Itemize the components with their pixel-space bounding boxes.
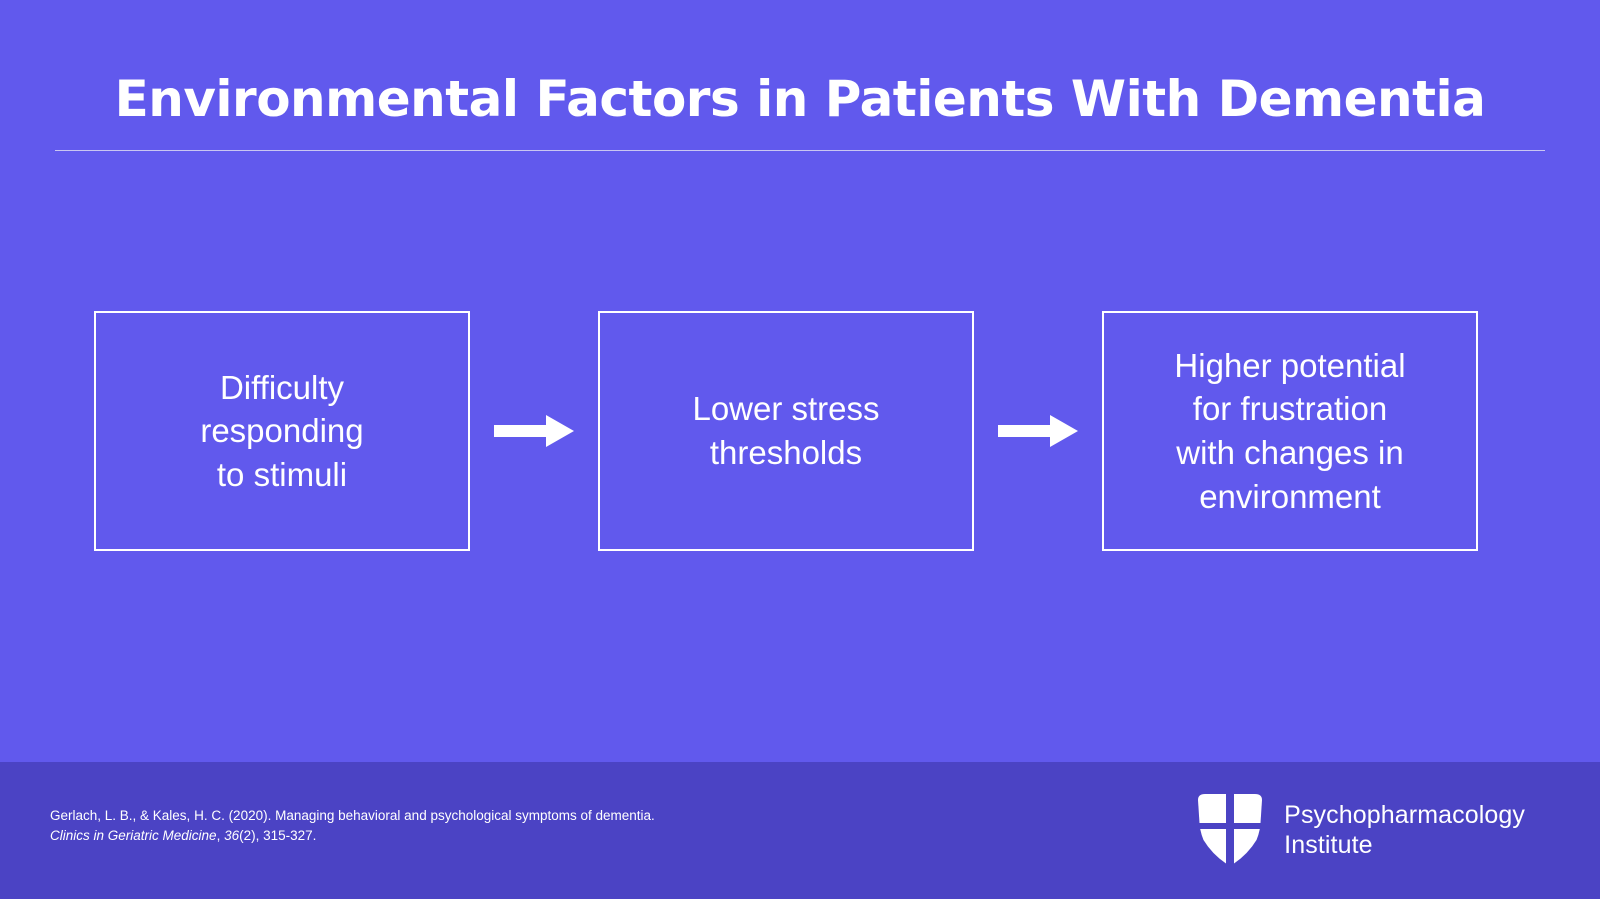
- shield-icon: [1194, 790, 1266, 870]
- arrow-right-icon-1: [470, 311, 598, 551]
- arrow-right-icon-2: [974, 311, 1102, 551]
- citation-line-1: Gerlach, L. B., & Kales, H. C. (2020). M…: [50, 806, 655, 826]
- title-divider: [55, 150, 1545, 151]
- citation-line-2: Clinics in Geriatric Medicine, 36(2), 31…: [50, 826, 655, 846]
- flow-node-2: Lower stress thresholds: [598, 311, 974, 551]
- page-title: Environmental Factors in Patients With D…: [0, 72, 1600, 127]
- slide: Environmental Factors in Patients With D…: [0, 0, 1600, 899]
- citation-issue-pages: (2), 315-327.: [239, 828, 316, 843]
- brand-logo: Psychopharmacology Institute: [1194, 790, 1525, 870]
- flow-diagram: Difficulty responding to stimuli Lower s…: [94, 311, 1506, 551]
- footer-band: Gerlach, L. B., & Kales, H. C. (2020). M…: [0, 762, 1600, 899]
- citation-separator: ,: [217, 828, 225, 843]
- flow-node-3: Higher potential for frustration with ch…: [1102, 311, 1478, 551]
- flow-node-1: Difficulty responding to stimuli: [94, 311, 470, 551]
- citation-journal: Clinics in Geriatric Medicine: [50, 828, 217, 843]
- title-area: Environmental Factors in Patients With D…: [0, 0, 1600, 127]
- citation-volume: 36: [224, 828, 239, 843]
- citation: Gerlach, L. B., & Kales, H. C. (2020). M…: [50, 806, 655, 847]
- brand-name: Psychopharmacology Institute: [1284, 800, 1525, 861]
